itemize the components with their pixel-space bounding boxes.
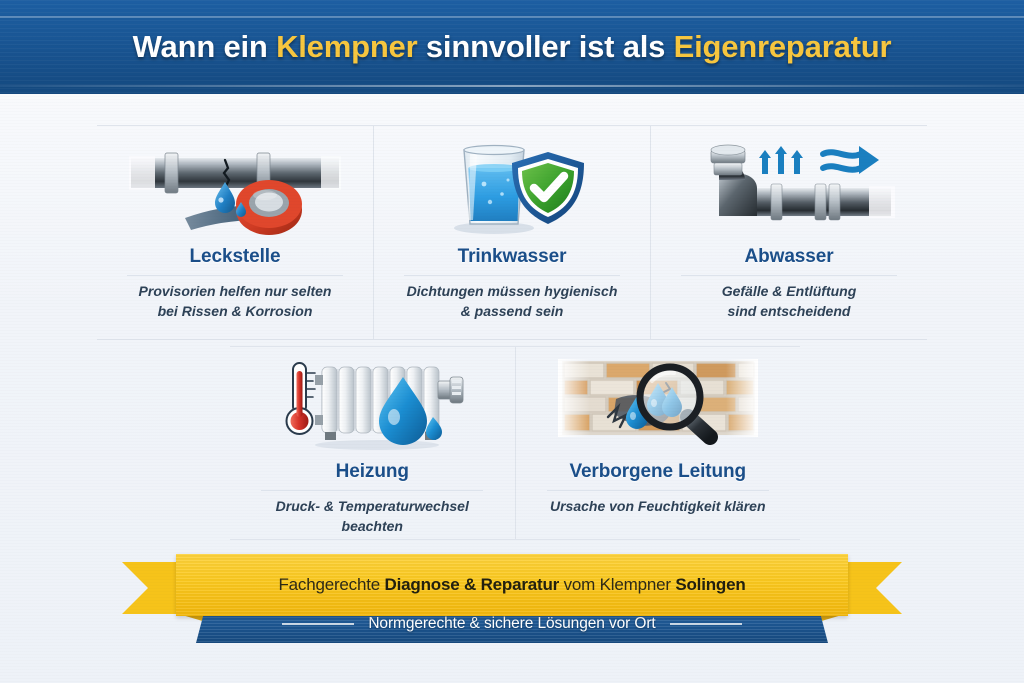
- card-description: Dichtungen müssen hygienisch & passend s…: [407, 282, 618, 322]
- card-description: Gefälle & Entlüftung sind entscheidend: [722, 282, 857, 322]
- card-divider: [681, 275, 896, 276]
- waste-water-elbow-pipe-with-airflow-arrows-icon: [683, 138, 895, 236]
- card-description: Provisorien helfen nur selten bei Rissen…: [139, 282, 332, 322]
- card-row-bottom: Heizung Druck- & Temperaturwechsel beach…: [230, 346, 800, 540]
- page-title-part-2-highlight: Klempner: [276, 29, 417, 64]
- card-title: Trinkwasser: [458, 246, 567, 268]
- card-desc-line-2: bei Rissen & Korrosion: [158, 303, 313, 319]
- card-divider: [127, 275, 342, 276]
- card-desc-line-1: Dichtungen müssen hygienisch: [407, 283, 618, 299]
- blue-band-content: Normgerechte & sichere Lösungen vor Ort: [282, 615, 741, 633]
- ribbon-text: Fachgerechte Diagnose & Reparatur vom Kl…: [278, 575, 745, 595]
- card-desc-line-1: Provisorien helfen nur selten: [139, 283, 332, 299]
- ribbon-text-part-2-bold: Diagnose & Reparatur: [385, 575, 560, 594]
- drinking-water-glass-with-shield-check-icon: [432, 138, 592, 236]
- card-title: Verborgene Leitung: [569, 461, 746, 483]
- card-leckstelle: Leckstelle Provisorien helfen nur selten…: [97, 126, 373, 339]
- divider-line-left: [282, 623, 354, 625]
- card-title: Leckstelle: [190, 246, 281, 268]
- ribbon-text-part-3: vom Klempner: [559, 575, 675, 594]
- radiator-with-thermometer-and-water-drop-icon: [277, 359, 467, 451]
- card-title: Heizung: [336, 461, 409, 483]
- page-title-part-4-highlight: Eigenreparatur: [674, 29, 892, 64]
- ribbon-text-part-4-bold: Solingen: [675, 575, 745, 594]
- brick-wall-with-magnifier-and-moisture-drops-icon: [558, 359, 758, 451]
- card-divider: [261, 490, 483, 491]
- blue-band-text: Normgerechte & sichere Lösungen vor Ort: [368, 615, 655, 633]
- leaking-pipe-with-sealing-tape-icon: [129, 138, 341, 236]
- card-divider: [547, 490, 769, 491]
- card-heizung: Heizung Druck- & Temperaturwechsel beach…: [230, 347, 515, 539]
- card-desc-line-1: Ursache von Feuchtigkeit klären: [550, 498, 766, 514]
- divider-line-right: [670, 623, 742, 625]
- header-banner: Wann ein Klempner sinnvoller ist als Eig…: [0, 0, 1024, 94]
- card-desc-line-2: & passend sein: [461, 303, 564, 319]
- card-abwasser: Abwasser Gefälle & Entlüftung sind entsc…: [650, 126, 927, 339]
- page-title-part-3: sinnvoller ist als: [417, 29, 673, 64]
- card-trinkwasser: Trinkwasser Dichtungen müssen hygienisch…: [373, 126, 650, 339]
- card-row-top: Leckstelle Provisorien helfen nur selten…: [97, 125, 927, 340]
- card-description: Ursache von Feuchtigkeit klären: [550, 497, 766, 517]
- card-description: Druck- & Temperaturwechsel beachten: [276, 497, 469, 537]
- ribbon-text-part-1: Fachgerechte: [278, 575, 384, 594]
- page-title-part-1: Wann ein: [133, 29, 276, 64]
- card-divider: [404, 275, 619, 276]
- ribbon-main-banner: Fachgerechte Diagnose & Reparatur vom Kl…: [176, 554, 848, 616]
- card-desc-line-1: Gefälle & Entlüftung: [722, 283, 857, 299]
- card-desc-line-2: beachten: [342, 518, 403, 534]
- card-desc-line-2: sind entscheidend: [728, 303, 851, 319]
- page-title: Wann ein Klempner sinnvoller ist als Eig…: [133, 29, 892, 65]
- card-desc-line-1: Druck- & Temperaturwechsel: [276, 498, 469, 514]
- card-title: Abwasser: [745, 246, 834, 268]
- card-verborgene-leitung: Verborgene Leitung Ursache von Feuchtigk…: [515, 347, 801, 539]
- footer-ribbon: Fachgerechte Diagnose & Reparatur vom Kl…: [0, 548, 1024, 643]
